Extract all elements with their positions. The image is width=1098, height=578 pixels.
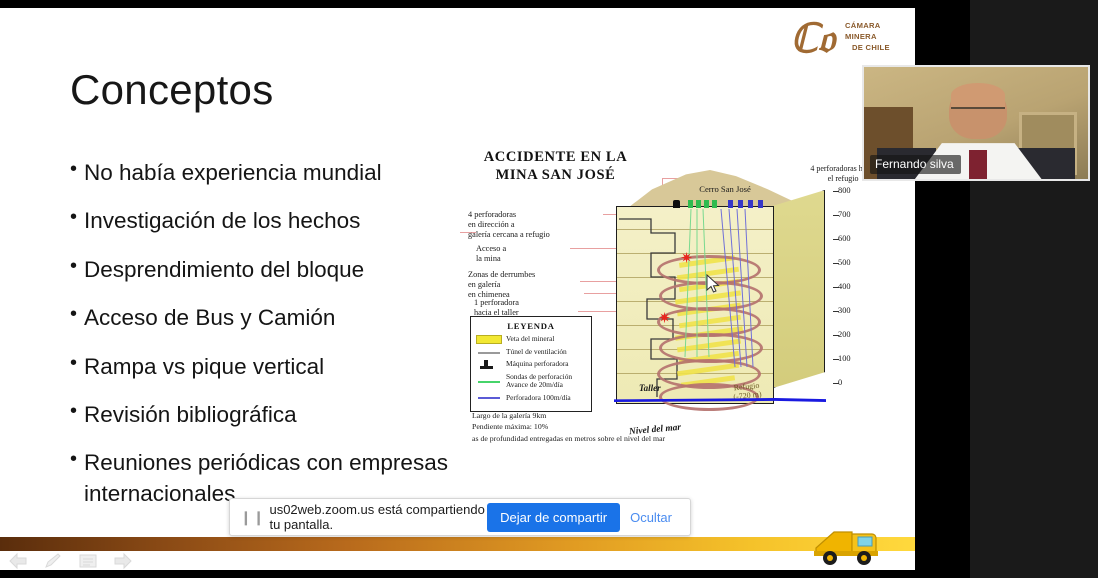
scale-tick: 200 [838, 330, 878, 339]
bullet-dot-icon: • [70, 352, 84, 375]
letterbox-top [0, 0, 970, 8]
legend-item-label: Sondas de perforación Avance de 20m/día [506, 373, 572, 390]
probe-lines [617, 207, 775, 405]
depth-scale: 800 700 600 500 400 300 200 100 0 [838, 186, 882, 386]
logo-line-3: DE CHILE [852, 42, 890, 53]
list-item: • Desprendimiento del bloque [70, 255, 460, 285]
pen-icon[interactable] [43, 552, 63, 570]
fast-drill-rig-icon [748, 200, 753, 208]
block-front-face: ✷ ✷ Taller Nivel del mar [616, 206, 774, 404]
list-item-label: Rampa vs pique vertical [84, 352, 460, 382]
screen-root: ℂ𝔬 CÁMARA MINERA DE CHILE Conceptos • No… [0, 0, 1098, 578]
legend-item-label: Túnel de ventilación [506, 348, 567, 357]
list-item-label: Revisión bibliográfica [84, 400, 460, 430]
glasses-icon [951, 107, 1005, 115]
annotation-toolbar [8, 548, 138, 574]
drill-machine-icon [476, 360, 502, 369]
scale-tick: 300 [838, 306, 878, 315]
list-item-label: Acceso de Bus y Camión [84, 303, 460, 333]
diagram-legend: LEYENDA Veta del mineral Túnel de ventil… [470, 316, 592, 412]
mine-3d-block: ✷ ✷ Taller Nivel del mar Refugio (-720 m… [610, 170, 832, 428]
fast-drill-rig-icon [758, 200, 763, 208]
pause-icon[interactable]: ❙❙ [240, 509, 265, 526]
list-item: • No había experiencia mundial [70, 158, 460, 188]
participant-name-label: Fernando silva [870, 155, 961, 174]
bullet-list: • No había experiencia mundial • Investi… [70, 158, 460, 527]
hill-label: Cerro San José [670, 184, 780, 194]
vein-swatch-icon [476, 335, 502, 344]
legend-item-label: Perforadora 100m/día [506, 394, 571, 403]
share-status-text: us02web.zoom.us está compartiendo tu pan… [265, 502, 487, 532]
fast-drill-rig-icon [728, 200, 733, 208]
scale-tick: 0 [838, 378, 878, 387]
logo-line-2: MINERA [845, 31, 877, 42]
participant-video-tile[interactable]: Fernando silva [862, 65, 1090, 181]
annotation-mine-access: Acceso a la mina [476, 244, 596, 264]
probe-swatch-icon [476, 377, 502, 386]
bullet-dot-icon: • [70, 400, 84, 423]
bullet-dot-icon: • [70, 303, 84, 326]
scale-tick: 400 [838, 282, 878, 291]
collapse-burst-icon: ✷ [657, 311, 672, 326]
bullet-dot-icon: • [70, 158, 84, 181]
collapse-burst-icon: ✷ [679, 251, 694, 266]
camara-minera-logo: ℂ𝔬 CÁMARA MINERA DE CHILE [790, 12, 905, 64]
scale-tick: 100 [838, 354, 878, 363]
fastdrill-swatch-icon [476, 393, 502, 402]
dump-truck-icon [812, 522, 884, 566]
drill-machine-icon [673, 200, 680, 208]
legend-item-label: Máquina perforadora [506, 360, 569, 369]
block-side-face [773, 190, 825, 388]
back-arrow-icon[interactable] [8, 552, 28, 570]
video-tie [969, 150, 987, 179]
legend-item: Sondas de perforación Avance de 20m/día [476, 373, 586, 390]
bullet-dot-icon: • [70, 206, 84, 229]
probe-rig-icon [712, 200, 717, 208]
bullet-dot-icon: • [70, 255, 84, 278]
legend-item: Perforadora 100m/día [476, 393, 586, 402]
legend-item: Túnel de ventilación [476, 348, 586, 357]
workshop-label: Taller [639, 383, 661, 393]
list-item: • Investigación de los hechos [70, 206, 460, 236]
list-item: • Revisión bibliográfica [70, 400, 460, 430]
legend-item: Máquina perforadora [476, 360, 586, 369]
stop-sharing-button[interactable]: Dejar de compartir [487, 503, 620, 532]
screen-share-bar: ❙❙ us02web.zoom.us está compartiendo tu … [229, 498, 691, 536]
probe-rig-icon [688, 200, 693, 208]
list-item-label: Investigación de los hechos [84, 206, 460, 236]
list-item-label: Desprendimiento del bloque [84, 255, 460, 285]
list-item: • Acceso de Bus y Camión [70, 303, 460, 333]
legend-item-label: Veta del mineral [506, 335, 554, 344]
notes-icon[interactable] [78, 552, 98, 570]
probe-rig-icon [696, 200, 701, 208]
probe-rig-icon [704, 200, 709, 208]
mine-diagram: ACCIDENTE EN LA MINA SAN JOSÉ 4 perforad… [460, 148, 890, 453]
scale-tick: 600 [838, 234, 878, 243]
video-person-hairline [951, 83, 1005, 108]
bullet-dot-icon: • [70, 448, 84, 471]
logo-line-1: CÁMARA [845, 20, 881, 31]
scale-tick: 700 [838, 210, 878, 219]
hide-button[interactable]: Ocultar [620, 504, 682, 531]
forward-arrow-icon[interactable] [113, 552, 133, 570]
letterbox-bottom [0, 570, 970, 578]
list-item: • Rampa vs pique vertical [70, 352, 460, 382]
list-item-label: No había experiencia mundial [84, 158, 460, 188]
annotation-collapse-zones: Zonas de derrumbes en galería en chimene… [468, 270, 598, 300]
logo-mark-icon: ℂ𝔬 [790, 18, 852, 60]
legend-title: LEYENDA [476, 321, 586, 331]
legend-item: Veta del mineral [476, 335, 586, 344]
tunnel-swatch-icon [476, 348, 502, 357]
annotation-drills-refuge-gallery: 4 perforadoras en dirección a galería ce… [468, 210, 603, 240]
scale-tick: 800 [838, 186, 878, 195]
page-title: Conceptos [70, 66, 274, 114]
shared-slide: ℂ𝔬 CÁMARA MINERA DE CHILE Conceptos • No… [0, 8, 915, 570]
scale-tick: 500 [838, 258, 878, 267]
fast-drill-rig-icon [738, 200, 743, 208]
